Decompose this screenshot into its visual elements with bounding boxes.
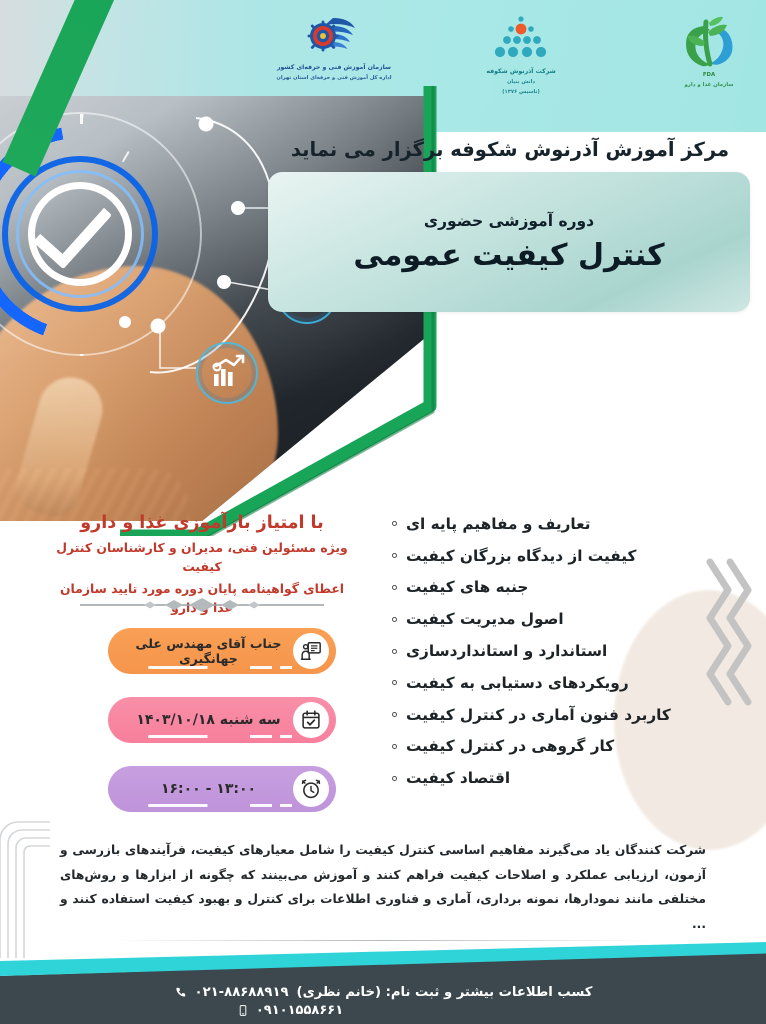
topic-label: رویکردهای دستیابی به کیفیت xyxy=(406,674,629,692)
offer-audience: ویژه مسئولین فنی، مدیران و کارشناسان کنت… xyxy=(52,538,352,576)
detail-pill-presenter[interactable]: جناب آقای مهندس علی جهانگیری xyxy=(108,628,336,674)
pill-underline xyxy=(148,735,298,738)
topic-item: استاندارد و استانداردسازی xyxy=(392,635,722,667)
detail-pill-date[interactable]: سه شنبه ۱۴۰۳/۱۰/۱۸ xyxy=(108,697,336,743)
bullet-icon xyxy=(392,776,397,781)
tvto-emblem-icon xyxy=(303,14,365,62)
contact-phone[interactable]: ۰۲۱-۸۸۶۸۸۹۱۹ xyxy=(195,985,289,1000)
bullet-icon xyxy=(392,553,397,558)
footer-divider xyxy=(110,940,656,941)
phone-icon xyxy=(174,986,187,999)
azarnoosh-dot-pyramid-icon xyxy=(484,14,558,66)
alarm-clock-icon xyxy=(293,771,329,807)
course-poster: سازمان آموزش فنی و حرفه‌ای کشور اداره کل… xyxy=(0,0,766,1024)
topic-item: جنبه های کیفیت xyxy=(392,572,722,604)
topic-label: کاربرد فنون آماری در کنترل کیفیت xyxy=(406,706,671,724)
topic-label: جنبه های کیفیت xyxy=(406,578,528,596)
topic-item: اصول مدیریت کیفیت xyxy=(392,603,722,635)
pill-underline xyxy=(148,804,298,807)
pill-underline xyxy=(148,666,298,669)
bullet-icon xyxy=(392,617,397,622)
logo-row: سازمان آموزش فنی و حرفه‌ای کشور اداره کل… xyxy=(0,0,766,132)
topic-label: اقتصاد کیفیت xyxy=(406,769,510,787)
hero-analytics-node-icon xyxy=(196,342,258,404)
topic-item: اقتصاد کیفیت xyxy=(392,762,722,794)
topic-label: اصول مدیریت کیفیت xyxy=(406,610,564,628)
topic-item: کیفیت از دیدگاه بزرگان کیفیت xyxy=(392,540,722,572)
tvto-logo-title: سازمان آموزش فنی و حرفه‌ای کشور xyxy=(268,64,400,73)
bullet-icon xyxy=(392,712,397,717)
bullet-icon xyxy=(392,521,397,526)
topic-label: کیفیت از دیدگاه بزرگان کیفیت xyxy=(406,547,636,565)
azarnoosh-logo-subtitle: دانش بنیان xyxy=(462,79,580,87)
announcement-text: مرکز آموزش آذرنوش شکوفه برگزار می نماید xyxy=(272,138,748,161)
tvto-logo: سازمان آموزش فنی و حرفه‌ای کشور اداره کل… xyxy=(268,14,400,83)
course-title-card: دوره آموزشی حضوری کنترل کیفیت عمومی xyxy=(268,172,750,312)
course-description: شرکت کنندگان یاد می‌گیرند مفاهیم اساسی ک… xyxy=(60,838,706,936)
topic-label: کار گروهی در کنترل کیفیت xyxy=(406,737,614,755)
offer-title: با امتیاز بازآموزی غذا و دارو xyxy=(52,512,352,535)
fda-logo-title: FDA xyxy=(656,72,762,80)
presenter-name: جناب آقای مهندس علی جهانگیری xyxy=(120,636,293,666)
bullet-icon xyxy=(392,744,397,749)
footer-contact: کسب اطلاعات بیشتر و ثبت نام: (خانم نظری)… xyxy=(0,985,766,1018)
fda-logo: FDA سازمان غذا و دارو xyxy=(656,14,762,90)
contact-mobile[interactable]: ۰۹۱۰۱۵۵۸۶۶۱ xyxy=(256,1003,343,1018)
fda-logo-subtitle: سازمان غذا و دارو xyxy=(656,82,762,90)
azarnoosh-logo: شرکت آذرنوش شکوفه دانش بنیان (تاسیس ۱۳۷۶… xyxy=(462,14,580,96)
diamond-divider xyxy=(78,598,326,612)
contact-label: کسب اطلاعات بیشتر و ثبت نام: (خانم نظری) xyxy=(297,985,593,1000)
topic-label: استاندارد و استانداردسازی xyxy=(406,642,607,660)
mobile-icon xyxy=(237,1004,249,1017)
hero-checkmark-icon xyxy=(46,198,124,242)
course-kicker: دوره آموزشی حضوری xyxy=(424,212,594,230)
tvto-logo-subtitle: اداره کل آموزش فنی و حرفه‌ای استان تهران xyxy=(268,75,400,83)
course-date: سه شنبه ۱۴۰۳/۱۰/۱۸ xyxy=(120,712,293,728)
detail-pill-time[interactable]: ۱۳:۰۰ - ۱۶:۰۰ xyxy=(108,766,336,812)
bullet-icon xyxy=(392,680,397,685)
topic-item: تعاریف و مفاهیم پایه ای xyxy=(392,508,722,540)
course-title: کنترل کیفیت عمومی xyxy=(353,238,664,273)
topic-item: رویکردهای دستیابی به کیفیت xyxy=(392,667,722,699)
azarnoosh-logo-founded: (تاسیس ۱۳۷۶) xyxy=(462,89,580,97)
bullet-icon xyxy=(392,649,397,654)
topics-list: تعاریف و مفاهیم پایه ای کیفیت از دیدگاه … xyxy=(392,508,722,794)
fda-apple-leaf-icon xyxy=(678,14,740,70)
bullet-icon xyxy=(392,585,397,590)
calendar-icon xyxy=(293,702,329,738)
topic-label: تعاریف و مفاهیم پایه ای xyxy=(406,515,591,533)
topic-item: کاربرد فنون آماری در کنترل کیفیت xyxy=(392,699,722,731)
course-time: ۱۳:۰۰ - ۱۶:۰۰ xyxy=(120,781,293,797)
azarnoosh-logo-title: شرکت آذرنوش شکوفه xyxy=(462,68,580,77)
corner-bracket-decoration xyxy=(0,820,64,960)
topic-item: کار گروهی در کنترل کیفیت xyxy=(392,731,722,763)
presenter-icon xyxy=(293,633,329,669)
